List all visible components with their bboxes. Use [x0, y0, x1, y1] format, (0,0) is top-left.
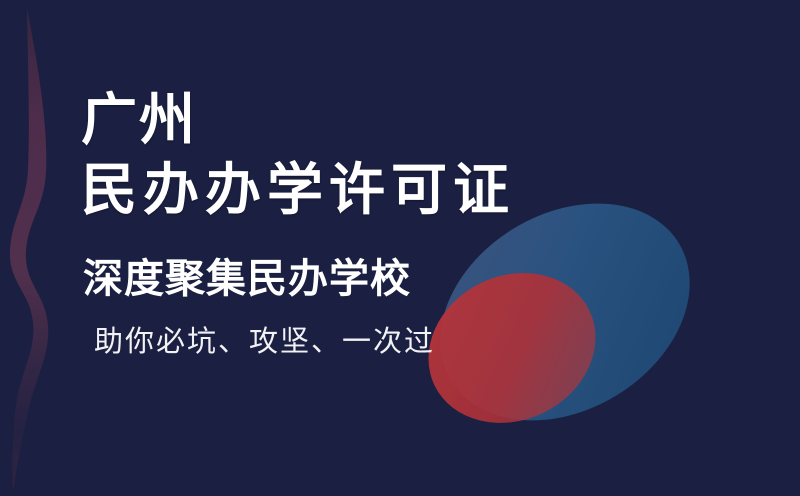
banner-title-line-2: 民办办学许可证 — [81, 163, 515, 219]
banner-subtitle-secondary: 助你必坑、攻坚、一次过 — [94, 327, 435, 356]
banner-title-line-1: 广州 — [81, 93, 197, 149]
promo-banner: 广州 民办办学许可证 深度聚集民办学校 助你必坑、攻坚、一次过 — [0, 0, 800, 496]
banner-subtitle-primary: 深度聚集民办学校 — [83, 259, 411, 299]
banner-text-block: 广州 民办办学许可证 深度聚集民办学校 助你必坑、攻坚、一次过 — [0, 0, 800, 496]
